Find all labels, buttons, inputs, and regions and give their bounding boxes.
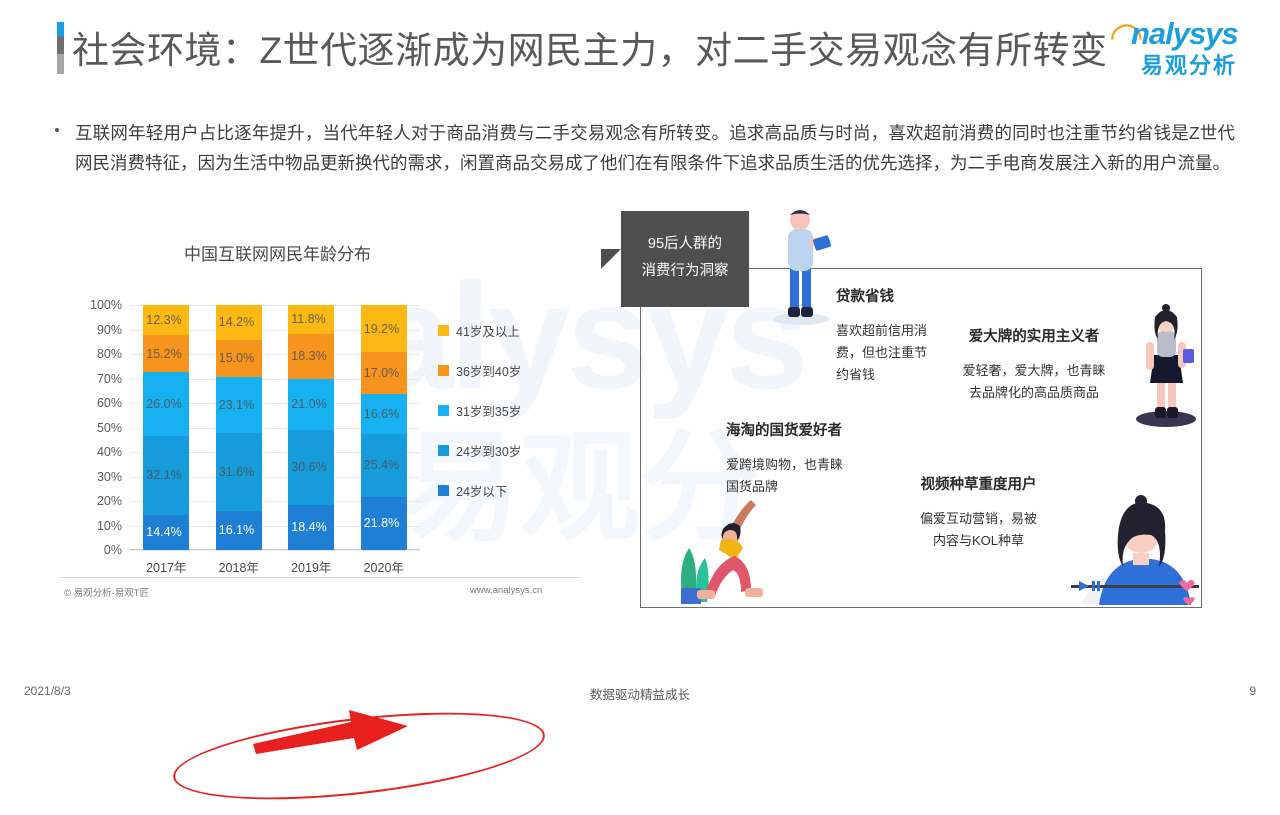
chart-data-label: 16.6% — [361, 407, 399, 421]
legend-label: 24岁以下 — [456, 481, 507, 500]
logo-wordmark: nalysys — [1131, 16, 1238, 52]
chart-plot-area: 0%10%20%30%40%50%60%70%80%90%100%14.4%32… — [130, 305, 420, 550]
insight-item-4-title: 视频种草重度用户 — [871, 473, 1086, 494]
chart-data-label: 31.6% — [216, 465, 254, 479]
bullet-dot-icon — [55, 128, 59, 132]
chart-y-tick-label: 0% — [104, 543, 122, 557]
chart-legend: 41岁及以上36岁到40岁31岁到35岁24岁到30岁24岁以下 — [438, 310, 521, 510]
chart-data-label: 19.2% — [361, 322, 399, 336]
callout-line-1: 95后人群的 — [621, 231, 749, 258]
page-header: 社会环境：Z世代逐渐成为网民主力，对二手交易观念有所转变 ◠ nalysys 易… — [0, 0, 1280, 100]
chart-data-label: 26.0% — [143, 397, 181, 411]
chart-data-label: 17.0% — [361, 366, 399, 380]
page-title: 社会环境：Z世代逐渐成为网民主力，对二手交易观念有所转变 — [72, 20, 1108, 74]
chart-data-label: 14.4% — [143, 525, 181, 539]
chart-data-label: 21.8% — [361, 516, 399, 530]
insight-panel: 95后人群的 消费行为洞察 贷款省钱 喜欢超前信用消 费，但也注重节 约省钱 爱… — [640, 268, 1202, 608]
trend-arrow-annotation — [253, 710, 408, 754]
chart-legend-item: 36岁到40岁 — [438, 350, 521, 390]
chart-y-tick-label: 60% — [97, 396, 122, 410]
insight-callout-text: 95后人群的 消费行为洞察 — [621, 211, 749, 285]
chart-bar-segment: 21.0% — [288, 379, 334, 430]
chart-bar-segment: 32.1% — [143, 436, 189, 515]
chart-bar: 14.4%32.1%26.0%15.2%12.3% — [143, 305, 189, 550]
chart-y-tick-label: 70% — [97, 372, 122, 386]
illustration-man-reading — [766, 207, 836, 327]
chart-bar-segment: 16.1% — [216, 511, 262, 550]
chart-data-label: 15.0% — [216, 351, 254, 365]
chart-bar-segment: 17.0% — [361, 352, 407, 394]
chart-bar-segment: 30.6% — [288, 430, 334, 505]
title-accent-bar — [57, 22, 64, 74]
chart-data-label: 32.1% — [143, 468, 181, 482]
chart-source-url: www.analysys.cn — [470, 585, 542, 596]
analysys-logo: ◠ nalysys 易观分析 — [1093, 14, 1258, 76]
chart-x-tick-label: 2019年 — [276, 557, 346, 576]
chart-bar-segment: 21.8% — [361, 497, 407, 550]
chart-data-label: 18.4% — [288, 520, 326, 534]
summary-bullet: 互联网年轻用户占比逐年提升，当代年轻人对于商品消费与二手交易观念有所转变。追求高… — [55, 118, 1235, 178]
chart-bar-segment: 18.3% — [288, 334, 334, 379]
chart-y-tick-label: 100% — [90, 298, 122, 312]
chart-bar-segment: 23.1% — [216, 377, 262, 434]
footer-page-number: 9 — [1249, 684, 1256, 698]
chart-bar-segment: 15.2% — [143, 335, 189, 372]
chart-gridline — [130, 550, 420, 551]
insight-item-4-desc: 偏爱互动营销，易被 内容与KOL种草 — [871, 508, 1086, 552]
illustration-woman-shopping — [1131, 297, 1201, 429]
legend-label: 36岁到40岁 — [456, 361, 521, 380]
chart-data-label: 18.3% — [288, 349, 326, 363]
chart-bar-segment: 16.6% — [361, 394, 407, 435]
chart-legend-item: 24岁以下 — [438, 470, 521, 510]
legend-label: 24岁到30岁 — [456, 441, 521, 460]
chart-legend-item: 24岁到30岁 — [438, 430, 521, 470]
chart-y-tick-label: 30% — [97, 470, 122, 484]
chart-x-tick-label: 2018年 — [204, 557, 274, 576]
chart-data-label: 15.2% — [143, 347, 181, 361]
callout-tail-shape — [601, 249, 621, 269]
chart-y-tick-label: 50% — [97, 421, 122, 435]
illustration-video-streamer — [1071, 467, 1201, 605]
footer-slogan: 数据驱动精益成长 — [0, 684, 1280, 703]
chart-x-tick-label: 2017年 — [131, 557, 201, 576]
insight-item-2: 爱大牌的实用主义者 爱轻奢，爱大牌，也青睐 去品牌化的高品质商品 — [919, 325, 1149, 404]
legend-label: 41岁及以上 — [456, 321, 520, 340]
chart-bar-segment: 15.0% — [216, 340, 262, 377]
legend-swatch — [438, 325, 449, 336]
chart-data-label: 11.8% — [288, 312, 326, 326]
chart-bar-segment: 14.4% — [143, 515, 189, 550]
chart-bar: 16.1%31.6%23.1%15.0%14.2% — [216, 305, 262, 550]
legend-swatch — [438, 365, 449, 376]
chart-data-label: 16.1% — [216, 523, 254, 537]
chart-bar-segment: 19.2% — [361, 305, 407, 352]
chart-data-label: 30.6% — [288, 460, 326, 474]
chart-y-tick-label: 10% — [97, 519, 122, 533]
illustration-yoga-woman — [661, 484, 771, 604]
chart-bar-segment: 18.4% — [288, 505, 334, 550]
insight-item-1: 贷款省钱 喜欢超前信用消 费，但也注重节 约省钱 — [836, 285, 927, 386]
chart-bar-segment: 11.8% — [288, 305, 334, 334]
insight-callout-box: 95后人群的 消费行为洞察 — [621, 211, 749, 307]
chart-y-tick-label: 20% — [97, 494, 122, 508]
age-distribution-chart: 中国互联网网民年龄分布 0%10%20%30%40%50%60%70%80%90… — [60, 240, 620, 620]
chart-legend-item: 31岁到35岁 — [438, 390, 521, 430]
legend-swatch — [438, 405, 449, 416]
insight-item-1-title: 贷款省钱 — [836, 285, 927, 306]
chart-data-label: 25.4% — [361, 458, 399, 472]
chart-bar: 21.8%25.4%16.6%17.0%19.2% — [361, 305, 407, 550]
legend-label: 31岁到35岁 — [456, 401, 521, 420]
chart-data-label: 12.3% — [143, 313, 181, 327]
chart-copyright: © 易观分析-易观T匠 — [64, 585, 149, 599]
chart-title: 中国互联网网民年龄分布 — [60, 240, 495, 265]
chart-y-tick-label: 40% — [97, 445, 122, 459]
chart-x-tick-label: 2020年 — [349, 557, 419, 576]
logo-chinese-name: 易观分析 — [1141, 48, 1237, 80]
chart-bar-segment: 12.3% — [143, 305, 189, 335]
insight-item-4: 视频种草重度用户 偏爱互动营销，易被 内容与KOL种草 — [871, 473, 1086, 552]
chart-bar-segment: 14.2% — [216, 305, 262, 340]
callout-line-2: 消费行为洞察 — [621, 258, 749, 285]
chart-y-tick-label: 90% — [97, 323, 122, 337]
legend-swatch — [438, 445, 449, 456]
chart-bar: 18.4%30.6%21.0%18.3%11.8% — [288, 305, 334, 550]
chart-legend-item: 41岁及以上 — [438, 310, 521, 350]
insight-item-3-title: 海淘的国货爱好者 — [726, 419, 843, 440]
insight-item-1-desc: 喜欢超前信用消 费，但也注重节 约省钱 — [836, 320, 927, 386]
chart-bar-segment: 26.0% — [143, 372, 189, 436]
insight-item-2-title: 爱大牌的实用主义者 — [919, 325, 1149, 346]
chart-data-label: 23.1% — [216, 398, 254, 412]
chart-data-label: 21.0% — [288, 397, 326, 411]
insight-item-2-desc: 爱轻奢，爱大牌，也青睐 去品牌化的高品质商品 — [919, 360, 1149, 404]
summary-text: 互联网年轻用户占比逐年提升，当代年轻人对于商品消费与二手交易观念有所转变。追求高… — [75, 118, 1235, 178]
chart-divider — [60, 577, 580, 578]
chart-data-label: 14.2% — [216, 315, 254, 329]
chart-bar-segment: 31.6% — [216, 433, 262, 510]
chart-y-tick-label: 80% — [97, 347, 122, 361]
chart-bar-segment: 25.4% — [361, 434, 407, 496]
legend-swatch — [438, 485, 449, 496]
